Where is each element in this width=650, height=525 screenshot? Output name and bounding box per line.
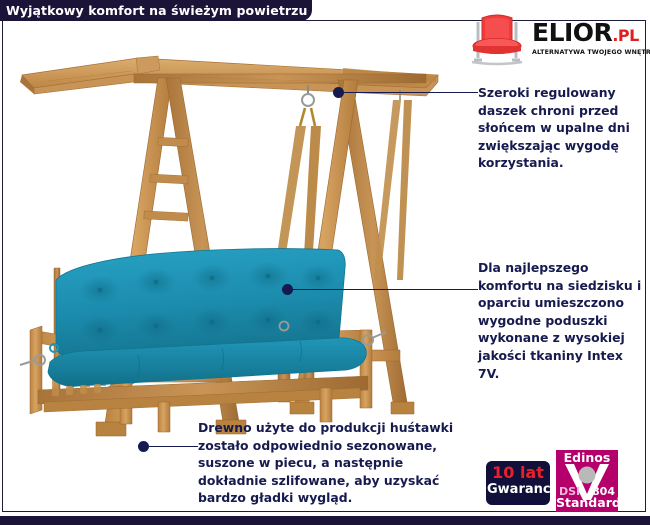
logo-text: ELIOR.PL ALTERNATYWA TWOJEGO WNĘTRZA!: [532, 20, 642, 56]
callout-dot-cushions: [282, 284, 293, 295]
infographic-root: Wyjątkowy komfort na świeżym powietrzu E…: [0, 0, 650, 525]
callout-dot-canopy: [333, 87, 344, 98]
warranty-badge-years: 10 lat: [487, 464, 549, 481]
logo-tagline: ALTERNATYWA TWOJEGO WNĘTRZA!: [532, 49, 642, 56]
logo-domain: .PL: [612, 26, 639, 45]
logo-brand: ELIOR: [532, 18, 612, 47]
callout-text-wood: Drewno użyte do produkcji huśtawki zosta…: [198, 419, 460, 507]
armchair-icon: [466, 8, 528, 66]
footer-bar: [0, 516, 650, 525]
callout-line-wood: [149, 446, 198, 447]
callout-line-cushions: [293, 289, 478, 290]
callout-text-canopy: Szeroki regulowany daszek chroni przed s…: [478, 84, 646, 172]
callout-line-canopy: [344, 92, 478, 93]
warranty-badge: 10 lat Gwarancji: [487, 462, 549, 504]
warranty-badge-label: Gwarancji: [487, 482, 549, 497]
brand-logo[interactable]: ELIOR.PL ALTERNATYWA TWOJEGO WNĘTRZA!: [466, 8, 642, 66]
callout-text-cushions: Dla najlepszego komfortu na siedzisku i …: [478, 259, 648, 382]
edinos-badge-standards: Standards: [556, 496, 618, 510]
header-title-bar: Wyjątkowy komfort na świeżym powietrzu: [0, 0, 312, 21]
edinos-standards-badge: Edinos DSI 804 Standards: [556, 450, 618, 512]
page-title: Wyjątkowy komfort na świeżym powietrzu: [6, 3, 308, 18]
edinos-badge-title: Edinos: [556, 451, 618, 465]
logo-brandline: ELIOR.PL: [532, 20, 642, 48]
callout-dot-wood: [138, 441, 149, 452]
